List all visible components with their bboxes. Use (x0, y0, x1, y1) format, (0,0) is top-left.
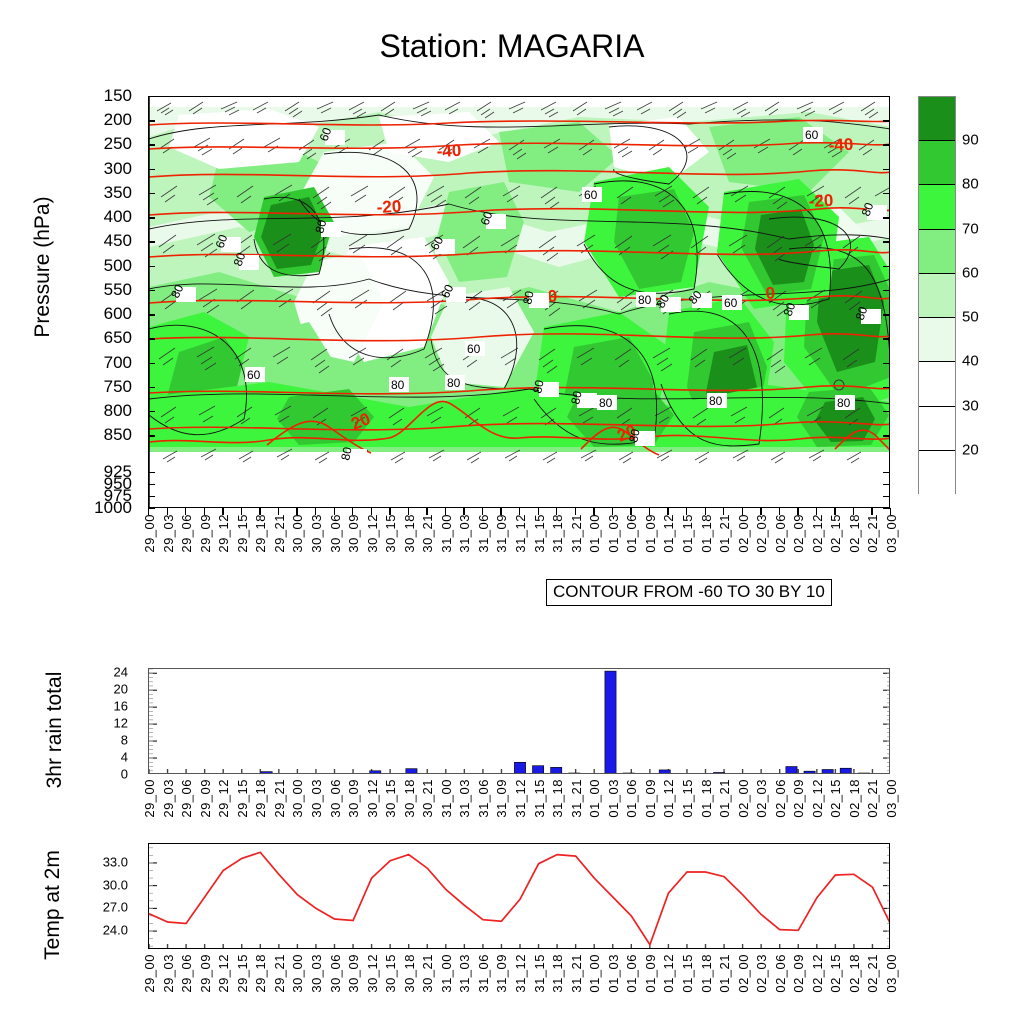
x-tick-29_03: 29_03 (161, 514, 176, 553)
x-tick-02_12: 02_12 (810, 779, 825, 818)
main-x-tick (371, 508, 372, 515)
main-x-tick (630, 508, 631, 515)
rain-y-tick-20: 20 (114, 682, 128, 697)
main-y-tick (883, 193, 890, 194)
main-y-tick (883, 363, 890, 364)
x-tick-02_03: 02_03 (754, 954, 769, 993)
x-tick-29_09: 29_09 (198, 954, 213, 993)
main-y-tick (148, 266, 155, 267)
weather-sounding-figure: Station: MAGARIA Pressure (hPa) 15020025… (0, 0, 1024, 1024)
main-x-tick (278, 508, 279, 515)
x-tick-29_06: 29_06 (179, 514, 194, 553)
x-tick-30_18: 30_18 (402, 514, 417, 553)
x-tick-02_09: 02_09 (791, 779, 806, 818)
main-y-tick (148, 290, 155, 291)
x-tick-01_15: 01_15 (680, 779, 695, 818)
main-y-tick (883, 508, 890, 509)
x-tick-02_00: 02_00 (736, 779, 751, 818)
rain-bar-svg (149, 669, 890, 774)
x-tick-30_09: 30_09 (346, 779, 361, 818)
x-tick-30_06: 30_06 (328, 514, 343, 553)
x-tick-02_18: 02_18 (847, 954, 862, 993)
x-tick-03_00: 03_00 (884, 954, 899, 993)
main-y-tick (148, 387, 155, 388)
colorbar-cell-5 (919, 318, 955, 362)
x-tick-30_06: 30_06 (328, 954, 343, 993)
x-tick-02_03: 02_03 (754, 514, 769, 553)
main-x-tick (705, 508, 706, 515)
x-tick-01_15: 01_15 (680, 954, 695, 993)
x-tick-01_15: 01_15 (680, 514, 695, 553)
main-y-tick-550: 550 (104, 280, 132, 300)
main-y-tick (883, 484, 890, 485)
main-y-tick-850: 850 (104, 425, 132, 445)
temperature-line (149, 852, 890, 944)
x-tick-31_09: 31_09 (494, 779, 509, 818)
x-tick-30_18: 30_18 (402, 954, 417, 993)
svg-text:60: 60 (724, 296, 738, 310)
x-tick-01_09: 01_09 (643, 514, 658, 553)
x-tick-31_03: 31_03 (457, 514, 472, 553)
rain-bar-02_18 (840, 768, 851, 774)
x-tick-01_03: 01_03 (606, 954, 621, 993)
x-tick-30_03: 30_03 (309, 779, 324, 818)
x-tick-01_18: 01_18 (699, 779, 714, 818)
colorbar-label-30: 30 (962, 397, 979, 414)
rain-bar-30_18 (406, 769, 417, 774)
svg-text:80: 80 (391, 378, 405, 392)
x-tick-29_06: 29_06 (179, 954, 194, 993)
main-y-tick-800: 800 (104, 401, 132, 421)
colorbar-label-90: 90 (962, 132, 979, 149)
x-tick-29_12: 29_12 (216, 954, 231, 993)
main-x-tick (686, 508, 687, 515)
x-tick-31_21: 31_21 (569, 514, 584, 553)
x-tick-01_03: 01_03 (606, 779, 621, 818)
main-y-tick-350: 350 (104, 183, 132, 203)
main-x-axis-labels: 29_0029_0329_0629_0929_1229_1529_1829_21… (148, 514, 890, 576)
main-y-tick (148, 472, 155, 473)
main-x-tick (241, 508, 242, 515)
x-tick-02_06: 02_06 (773, 954, 788, 993)
colorbar-cell-8 (919, 451, 955, 495)
main-y-tick-500: 500 (104, 256, 132, 276)
rain-bar-31_15 (532, 766, 543, 774)
x-tick-01_09: 01_09 (643, 954, 658, 993)
humidity-shading (149, 107, 890, 508)
x-tick-01_21: 01_21 (717, 514, 732, 553)
x-tick-30_00: 30_00 (290, 779, 305, 818)
main-x-tick (259, 508, 260, 515)
x-tick-01_12: 01_12 (661, 779, 676, 818)
colorbar-cell-7 (919, 407, 955, 451)
page-title: Station: MAGARIA (0, 28, 1024, 65)
x-tick-01_12: 01_12 (661, 954, 676, 993)
x-tick-31_00: 31_00 (439, 954, 454, 993)
contour-range-caption: CONTOUR FROM -60 TO 30 BY 10 (546, 579, 832, 606)
x-tick-31_09: 31_09 (494, 514, 509, 553)
main-y-tick (883, 241, 890, 242)
svg-text:0: 0 (765, 283, 776, 303)
x-tick-29_21: 29_21 (272, 954, 287, 993)
x-tick-30_12: 30_12 (365, 779, 380, 818)
svg-text:60: 60 (584, 188, 598, 202)
x-tick-02_15: 02_15 (828, 779, 843, 818)
rain-bar-29_18 (261, 772, 272, 774)
colorbar-label-60: 60 (962, 264, 979, 281)
x-tick-31_03: 31_03 (457, 779, 472, 818)
svg-text:80: 80 (599, 396, 613, 410)
main-y-tick (883, 472, 890, 473)
main-x-tick (760, 508, 761, 515)
rain-y-tick-12: 12 (114, 716, 128, 731)
x-tick-29_00: 29_00 (142, 514, 157, 553)
svg-text:80: 80 (447, 376, 461, 390)
main-y-tick (883, 266, 890, 267)
main-y-tick (883, 144, 890, 145)
x-tick-29_03: 29_03 (161, 954, 176, 993)
x-tick-29_18: 29_18 (253, 954, 268, 993)
x-tick-02_18: 02_18 (847, 779, 862, 818)
main-y-tick (148, 193, 155, 194)
main-y-tick (148, 338, 155, 339)
main-x-tick (315, 508, 316, 515)
x-tick-01_12: 01_12 (661, 514, 676, 553)
x-tick-02_18: 02_18 (847, 514, 862, 553)
x-tick-29_12: 29_12 (216, 514, 231, 553)
x-tick-01_06: 01_06 (624, 514, 639, 553)
main-x-tick (519, 508, 520, 515)
rain-y-tick-4: 4 (121, 750, 128, 765)
main-y-tick (148, 411, 155, 412)
main-y-tick (883, 387, 890, 388)
colorbar-cell-2 (919, 185, 955, 229)
main-x-tick (575, 508, 576, 515)
x-tick-01_06: 01_06 (624, 954, 639, 993)
x-tick-29_06: 29_06 (179, 779, 194, 818)
x-tick-31_15: 31_15 (532, 954, 547, 993)
colorbar-label-70: 70 (962, 220, 979, 237)
x-tick-31_15: 31_15 (532, 514, 547, 553)
main-y-tick (148, 241, 155, 242)
main-y-tick (883, 290, 890, 291)
x-tick-03_00: 03_00 (884, 514, 899, 553)
rain-y-axis-labels: 04812162024 (0, 668, 140, 774)
x-tick-02_12: 02_12 (810, 514, 825, 553)
x-tick-31_12: 31_12 (513, 779, 528, 818)
main-y-tick-300: 300 (104, 159, 132, 179)
x-tick-31_00: 31_00 (439, 779, 454, 818)
rain-y-tick-16: 16 (114, 699, 128, 714)
main-x-tick (834, 508, 835, 515)
rain-y-tick-24: 24 (114, 665, 128, 680)
x-tick-01_18: 01_18 (699, 514, 714, 553)
x-tick-30_09: 30_09 (346, 514, 361, 553)
svg-text:-20: -20 (808, 191, 834, 211)
x-tick-31_06: 31_06 (476, 514, 491, 553)
main-y-tick-200: 200 (104, 110, 132, 130)
x-tick-31_18: 31_18 (550, 779, 565, 818)
main-y-tick-400: 400 (104, 207, 132, 227)
rain-bar-01_21 (713, 772, 724, 774)
temperature-line-chart-panel (148, 843, 890, 949)
main-y-axis-labels: 1502002503003504004505005506006507007508… (0, 96, 140, 508)
x-tick-31_15: 31_15 (532, 779, 547, 818)
x-tick-02_06: 02_06 (773, 514, 788, 553)
x-tick-30_15: 30_15 (383, 954, 398, 993)
main-x-tick (779, 508, 780, 515)
main-x-tick (296, 508, 297, 515)
x-tick-29_00: 29_00 (142, 954, 157, 993)
main-x-tick (482, 508, 483, 515)
main-x-tick (816, 508, 817, 515)
colorbar (918, 96, 956, 494)
x-tick-01_00: 01_00 (587, 514, 602, 553)
svg-text:80: 80 (709, 394, 723, 408)
x-tick-30_15: 30_15 (383, 779, 398, 818)
rain-bars (261, 671, 869, 774)
x-tick-02_09: 02_09 (791, 954, 806, 993)
colorbar-labels: 9080706050403020 (962, 96, 1020, 494)
x-tick-31_12: 31_12 (513, 954, 528, 993)
rain-y-tick-8: 8 (121, 733, 128, 748)
x-tick-29_15: 29_15 (235, 954, 250, 993)
x-tick-30_00: 30_00 (290, 514, 305, 553)
main-x-tick (222, 508, 223, 515)
x-tick-31_03: 31_03 (457, 954, 472, 993)
rain-bar-31_21 (569, 773, 580, 774)
x-tick-02_21: 02_21 (865, 954, 880, 993)
x-tick-30_21: 30_21 (420, 779, 435, 818)
x-tick-31_21: 31_21 (569, 779, 584, 818)
x-tick-31_12: 31_12 (513, 514, 528, 553)
svg-text:60: 60 (467, 342, 481, 356)
x-tick-02_06: 02_06 (773, 779, 788, 818)
x-tick-01_21: 01_21 (717, 954, 732, 993)
main-x-tick (853, 508, 854, 515)
x-tick-29_18: 29_18 (253, 514, 268, 553)
contour-plot-panel: -40 -40 -20 -20 0 0 20 20 60 60 60 (148, 96, 890, 508)
temperature-line-svg (149, 844, 890, 949)
main-x-tick (723, 508, 724, 515)
main-x-tick (593, 508, 594, 515)
main-x-tick (500, 508, 501, 515)
x-tick-01_00: 01_00 (587, 779, 602, 818)
x-tick-01_06: 01_06 (624, 779, 639, 818)
main-y-tick (148, 96, 155, 97)
colorbar-label-50: 50 (962, 309, 979, 326)
x-tick-31_06: 31_06 (476, 779, 491, 818)
main-x-tick (352, 508, 353, 515)
x-tick-02_09: 02_09 (791, 514, 806, 553)
main-y-tick-250: 250 (104, 134, 132, 154)
temp-x-axis-labels: 29_0029_0329_0629_0929_1229_1529_1829_21… (148, 954, 890, 1016)
svg-text:-40: -40 (436, 141, 462, 161)
x-tick-02_00: 02_00 (736, 954, 751, 993)
main-y-tick (148, 508, 155, 509)
x-tick-30_06: 30_06 (328, 779, 343, 818)
x-tick-31_06: 31_06 (476, 954, 491, 993)
main-x-tick (408, 508, 409, 515)
rain-bar-30_12 (370, 771, 381, 774)
x-tick-03_00: 03_00 (884, 779, 899, 818)
rain-bar-02_21 (858, 773, 869, 774)
main-y-tick-750: 750 (104, 377, 132, 397)
x-tick-29_00: 29_00 (142, 779, 157, 818)
x-tick-01_03: 01_03 (606, 514, 621, 553)
main-y-tick (883, 314, 890, 315)
main-x-tick (389, 508, 390, 515)
main-y-tick (883, 217, 890, 218)
rain-bar-31_12 (514, 762, 525, 774)
temp-x-ticks (149, 944, 890, 949)
colorbar-cell-0 (919, 97, 955, 141)
x-tick-30_15: 30_15 (383, 514, 398, 553)
colorbar-label-40: 40 (962, 353, 979, 370)
main-y-tick (148, 144, 155, 145)
rain-bar-01_03 (605, 671, 616, 774)
temp-y-axis-labels: 24.027.030.033.0 (0, 843, 140, 949)
main-y-tick (883, 496, 890, 497)
temp-y-tick-30.0: 30.0 (103, 877, 128, 892)
x-tick-31_18: 31_18 (550, 514, 565, 553)
main-y-tick-450: 450 (104, 231, 132, 251)
rain-bar-02_15 (822, 769, 833, 774)
main-y-tick-150: 150 (104, 86, 132, 106)
x-tick-29_15: 29_15 (235, 514, 250, 553)
contour-plot-svg: -40 -40 -20 -20 0 0 20 20 60 60 60 (149, 97, 890, 508)
main-x-tick (426, 508, 427, 515)
x-tick-30_12: 30_12 (365, 954, 380, 993)
colorbar-label-80: 80 (962, 176, 979, 193)
main-x-tick (556, 508, 557, 515)
x-tick-29_12: 29_12 (216, 779, 231, 818)
main-x-tick (667, 508, 668, 515)
main-x-tick (538, 508, 539, 515)
x-tick-29_21: 29_21 (272, 514, 287, 553)
main-x-tick (742, 508, 743, 515)
main-y-tick (148, 435, 155, 436)
temp-y-tick-27.0: 27.0 (103, 900, 128, 915)
x-tick-02_21: 02_21 (865, 779, 880, 818)
main-x-tick (649, 508, 650, 515)
main-y-tick (883, 435, 890, 436)
colorbar-cell-4 (919, 274, 955, 318)
x-tick-02_21: 02_21 (865, 514, 880, 553)
main-x-tick (204, 508, 205, 515)
main-y-tick (148, 120, 155, 121)
rain-bar-02_09 (786, 767, 797, 774)
x-tick-30_21: 30_21 (420, 954, 435, 993)
x-tick-01_21: 01_21 (717, 779, 732, 818)
rain-x-axis-labels: 29_0029_0329_0629_0929_1229_1529_1829_21… (148, 779, 890, 841)
x-tick-02_15: 02_15 (828, 514, 843, 553)
main-y-tick (148, 169, 155, 170)
main-y-tick (883, 169, 890, 170)
x-tick-30_03: 30_03 (309, 514, 324, 553)
colorbar-label-20: 20 (962, 441, 979, 458)
rain-bar-chart-panel (148, 668, 890, 774)
main-y-tick (148, 217, 155, 218)
x-tick-30_03: 30_03 (309, 954, 324, 993)
main-y-tick (883, 338, 890, 339)
temp-ticks (149, 848, 890, 946)
main-x-tick (185, 508, 186, 515)
main-x-tick (871, 508, 872, 515)
x-tick-29_03: 29_03 (161, 779, 176, 818)
main-y-tick (148, 363, 155, 364)
main-y-tick (148, 314, 155, 315)
svg-text:-40: -40 (828, 135, 854, 155)
main-y-tick (883, 120, 890, 121)
rain-ticks (149, 669, 890, 774)
x-tick-29_18: 29_18 (253, 779, 268, 818)
x-tick-30_00: 30_00 (290, 954, 305, 993)
x-tick-02_00: 02_00 (736, 514, 751, 553)
main-x-tick (612, 508, 613, 515)
main-x-tick (334, 508, 335, 515)
colorbar-cell-1 (919, 141, 955, 185)
svg-text:60: 60 (805, 128, 819, 142)
main-y-tick-650: 650 (104, 328, 132, 348)
colorbar-cell-3 (919, 230, 955, 274)
rain-bar-31_18 (551, 767, 562, 774)
main-x-tick (797, 508, 798, 515)
x-tick-01_09: 01_09 (643, 779, 658, 818)
main-y-tick-700: 700 (104, 353, 132, 373)
x-tick-30_12: 30_12 (365, 514, 380, 553)
x-tick-02_15: 02_15 (828, 954, 843, 993)
rain-y-tick-0: 0 (121, 767, 128, 782)
x-tick-02_12: 02_12 (810, 954, 825, 993)
rain-bar-01_06 (623, 773, 634, 774)
x-tick-31_09: 31_09 (494, 954, 509, 993)
x-tick-30_09: 30_09 (346, 954, 361, 993)
main-y-tick (148, 496, 155, 497)
main-x-tick (445, 508, 446, 515)
temp-y-tick-33.0: 33.0 (103, 854, 128, 869)
main-y-tick (883, 411, 890, 412)
x-tick-29_09: 29_09 (198, 779, 213, 818)
x-tick-02_03: 02_03 (754, 779, 769, 818)
x-tick-30_21: 30_21 (420, 514, 435, 553)
main-y-tick (148, 484, 155, 485)
rain-bar-02_12 (804, 771, 815, 774)
x-tick-01_00: 01_00 (587, 954, 602, 993)
svg-text:-20: -20 (376, 197, 402, 217)
svg-text:80: 80 (837, 396, 851, 410)
rain-bar-01_12 (659, 770, 670, 774)
x-tick-01_18: 01_18 (699, 954, 714, 993)
svg-text:60: 60 (247, 368, 261, 382)
x-tick-29_09: 29_09 (198, 514, 213, 553)
main-y-tick-600: 600 (104, 304, 132, 324)
x-tick-31_21: 31_21 (569, 954, 584, 993)
main-x-tick (167, 508, 168, 515)
x-tick-29_21: 29_21 (272, 779, 287, 818)
main-x-tick (890, 508, 891, 515)
colorbar-cell-6 (919, 362, 955, 406)
svg-text:80: 80 (638, 293, 652, 307)
x-tick-29_15: 29_15 (235, 779, 250, 818)
main-x-tick (463, 508, 464, 515)
temp-y-tick-24.0: 24.0 (103, 923, 128, 938)
x-tick-31_18: 31_18 (550, 954, 565, 993)
x-tick-30_18: 30_18 (402, 779, 417, 818)
main-y-tick (883, 96, 890, 97)
main-y-tick-1000: 1000 (94, 498, 132, 518)
x-tick-31_00: 31_00 (439, 514, 454, 553)
